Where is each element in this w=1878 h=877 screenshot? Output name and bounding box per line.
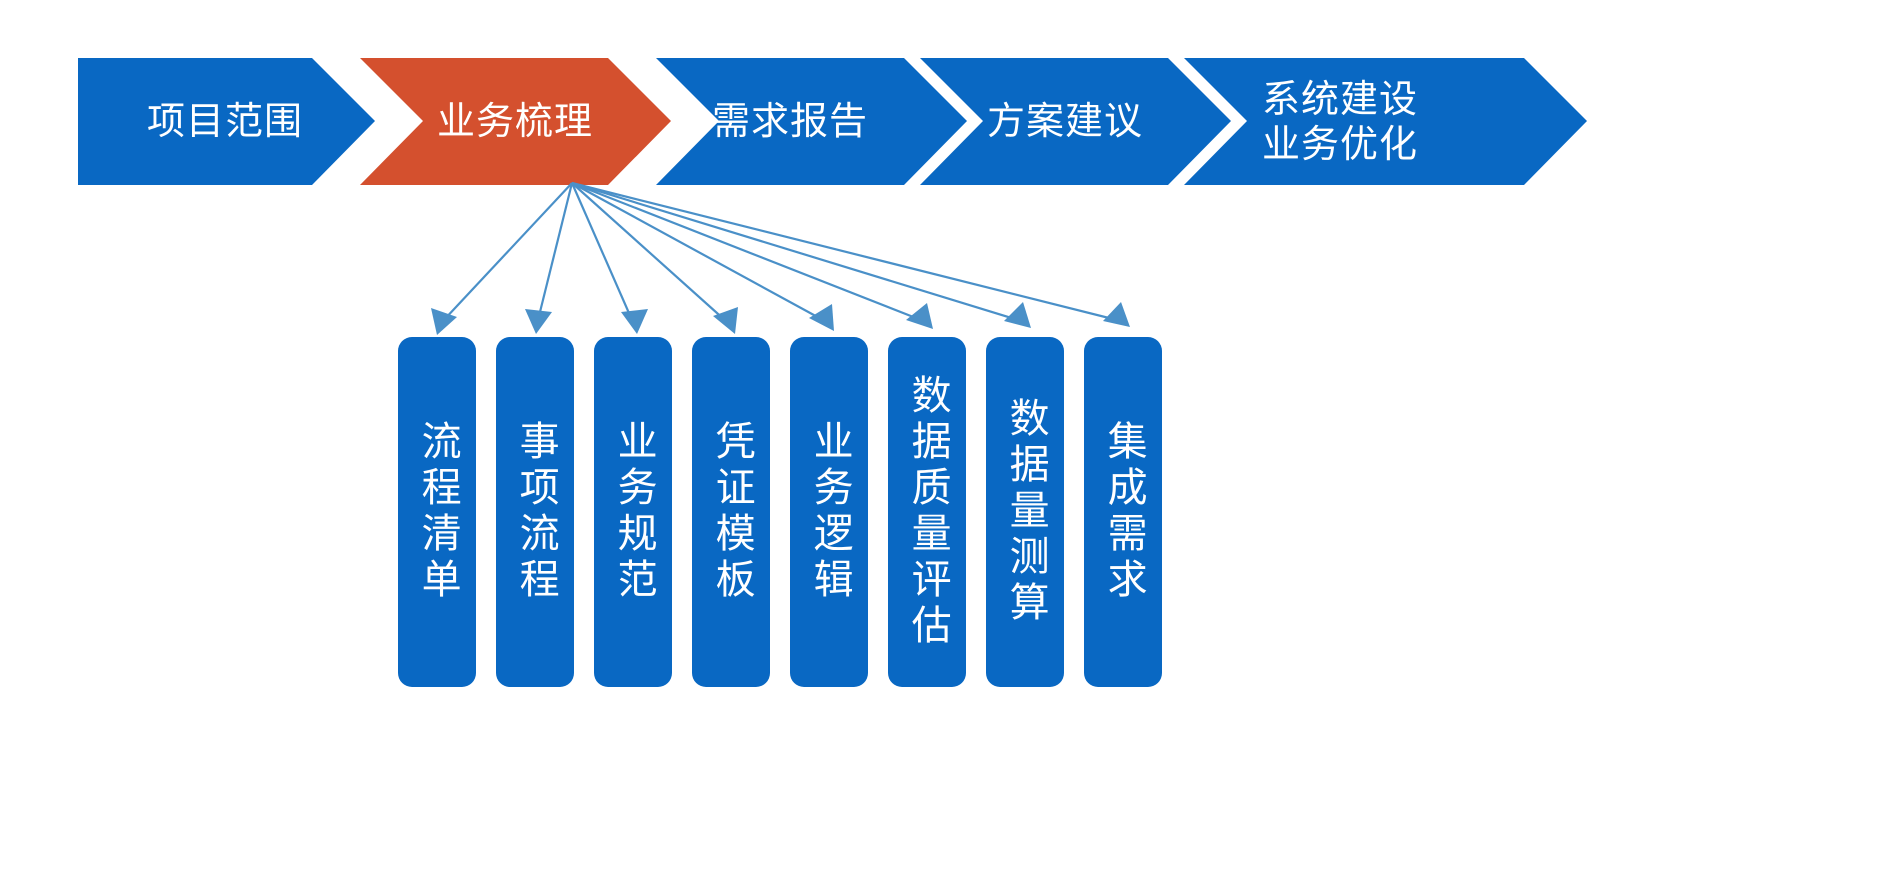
- deliverable-label-6: 数据质量评估: [903, 374, 950, 650]
- deliverable-label-3: 业务规范: [609, 420, 656, 604]
- phase-chevron-4[interactable]: [920, 58, 1231, 185]
- deliverable-label-4: 凭证模板: [707, 420, 754, 604]
- deliverable-label-2: 事项流程: [511, 420, 558, 604]
- connector-arrow-8: [572, 183, 1130, 327]
- phase-chevron-2[interactable]: [360, 58, 671, 185]
- deliverable-box-4[interactable]: 凭证模板: [692, 337, 770, 687]
- deliverable-box-row: 流程清单 事项流程 业务规范 凭证模板 业务逻辑 数据质量评估 数据量测算 集成…: [398, 337, 1188, 689]
- phase-chevron-3[interactable]: [656, 58, 967, 185]
- deliverable-box-3[interactable]: 业务规范: [594, 337, 672, 687]
- deliverable-box-1[interactable]: 流程清单: [398, 337, 476, 687]
- deliverable-box-2[interactable]: 事项流程: [496, 337, 574, 687]
- deliverable-label-1: 流程清单: [413, 420, 460, 604]
- connector-arrow-5: [572, 183, 834, 331]
- deliverable-label-5: 业务逻辑: [805, 420, 852, 604]
- connector-arrow-4: [572, 183, 738, 334]
- deliverable-box-6[interactable]: 数据质量评估: [888, 337, 966, 687]
- deliverable-box-5[interactable]: 业务逻辑: [790, 337, 868, 687]
- deliverable-box-7[interactable]: 数据量测算: [986, 337, 1064, 687]
- deliverable-box-8[interactable]: 集成需求: [1084, 337, 1162, 687]
- phase-chevron-5[interactable]: [1184, 58, 1587, 185]
- phase-chevron-1[interactable]: [78, 58, 375, 185]
- connector-arrow-group: [431, 183, 1130, 335]
- deliverable-label-8: 集成需求: [1099, 420, 1146, 604]
- deliverable-label-7: 数据量测算: [1001, 397, 1048, 627]
- diagram-canvas: 项目范围 业务梳理 需求报告 方案建议 系统建设 业务优化 流程清单 事项流程 …: [0, 0, 1878, 877]
- connector-arrow-2: [525, 183, 572, 334]
- connector-arrow-3: [572, 183, 648, 334]
- connector-arrow-7: [572, 183, 1031, 328]
